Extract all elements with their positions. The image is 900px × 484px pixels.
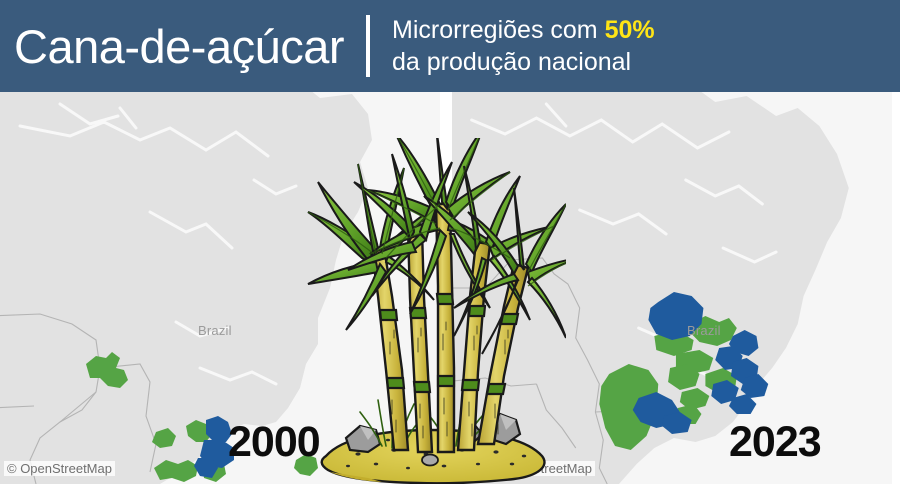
header-subtitle-highlight: 50%: [605, 16, 655, 44]
year-label-2000: 2000: [228, 421, 320, 464]
map-graphic-2000: [0, 92, 440, 484]
header-banner: Cana-de-açúcar Microrregiões com 50% da …: [0, 0, 900, 92]
infographic-root: Cana-de-açúcar Microrregiões com 50% da …: [0, 0, 900, 484]
maps-container: Brazil © OpenStreetMap 2000: [0, 92, 900, 484]
osm-attribution[interactable]: © OpenStreetMap: [4, 461, 115, 476]
map-graphic-2023: [452, 92, 892, 484]
osm-attribution[interactable]: © OpenStreetMap: [484, 461, 595, 476]
header-subtitle-line2: da produção nacional: [392, 46, 655, 78]
header-divider: [366, 15, 370, 77]
year-label-2023: 2023: [729, 421, 821, 464]
map-panel-2000[interactable]: Brazil © OpenStreetMap 2000: [0, 92, 440, 484]
page-title: Cana-de-açúcar: [14, 23, 344, 70]
map-panel-2023[interactable]: Brazil © OpenStreetMap 2023: [452, 92, 892, 484]
header-subtitle: Microrregiões com 50% da produção nacion…: [392, 14, 655, 78]
header-subtitle-line1-text: Microrregiões com: [392, 16, 605, 44]
header-subtitle-line1: Microrregiões com 50%: [392, 14, 655, 46]
